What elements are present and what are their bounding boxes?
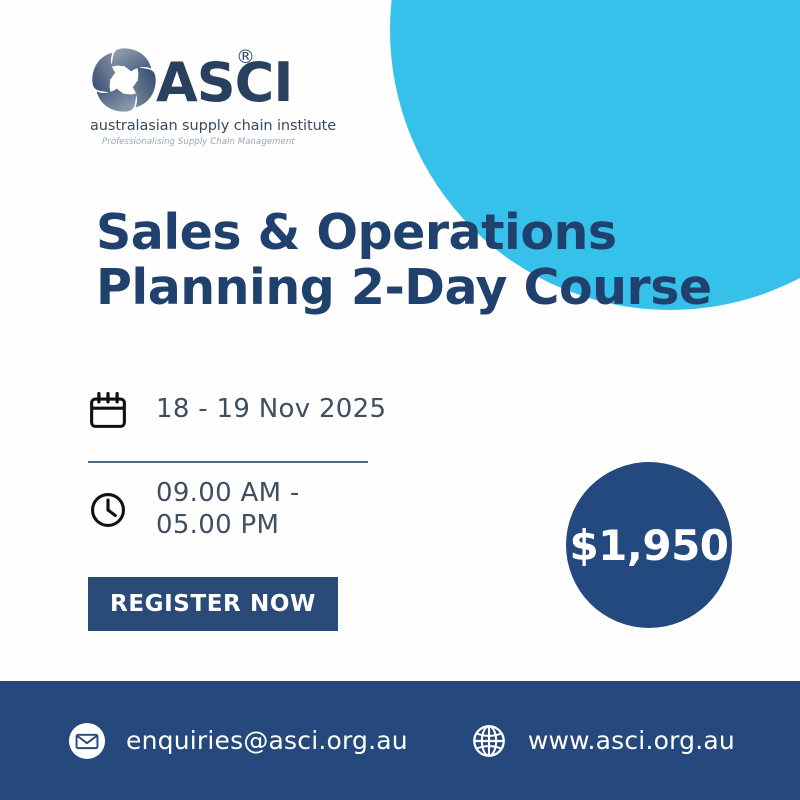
footer-website-item[interactable]: www.asci.org.au xyxy=(470,722,735,760)
calendar-icon xyxy=(88,390,128,430)
price-badge: $1,950 xyxy=(566,462,732,628)
logo-wordmark: ASCI xyxy=(156,56,292,110)
contact-footer: enquiries@asci.org.au www.asci.org.au xyxy=(0,681,800,800)
registered-trademark-icon: ® xyxy=(236,46,255,68)
clock-icon xyxy=(88,490,128,530)
asci-swirl-logo-mark xyxy=(88,44,160,116)
register-now-button[interactable]: REGISTER NOW xyxy=(88,577,338,631)
date-row: 18 - 19 Nov 2025 xyxy=(88,390,386,430)
footer-email-text: enquiries@asci.org.au xyxy=(126,726,408,755)
asci-logo: ASCI ® australasian supply chain institu… xyxy=(88,42,388,147)
logo-full-name: australasian supply chain institute xyxy=(90,118,388,134)
logo-row: ASCI ® xyxy=(88,42,388,116)
promotional-poster: ASCI ® australasian supply chain institu… xyxy=(0,0,800,800)
detail-divider xyxy=(88,461,368,463)
globe-icon xyxy=(470,722,508,760)
footer-website-text: www.asci.org.au xyxy=(528,726,735,755)
logo-tagline: Professionalising Supply Chain Managemen… xyxy=(102,137,388,147)
footer-email-item[interactable]: enquiries@asci.org.au xyxy=(68,722,408,760)
price-amount: $1,950 xyxy=(569,521,728,570)
course-time: 09.00 AM - 05.00 PM xyxy=(156,478,300,541)
envelope-icon xyxy=(68,722,106,760)
course-date: 18 - 19 Nov 2025 xyxy=(156,394,386,426)
time-row: 09.00 AM - 05.00 PM xyxy=(88,478,300,541)
page-title: Sales & Operations Planning 2-Day Course xyxy=(96,206,712,316)
